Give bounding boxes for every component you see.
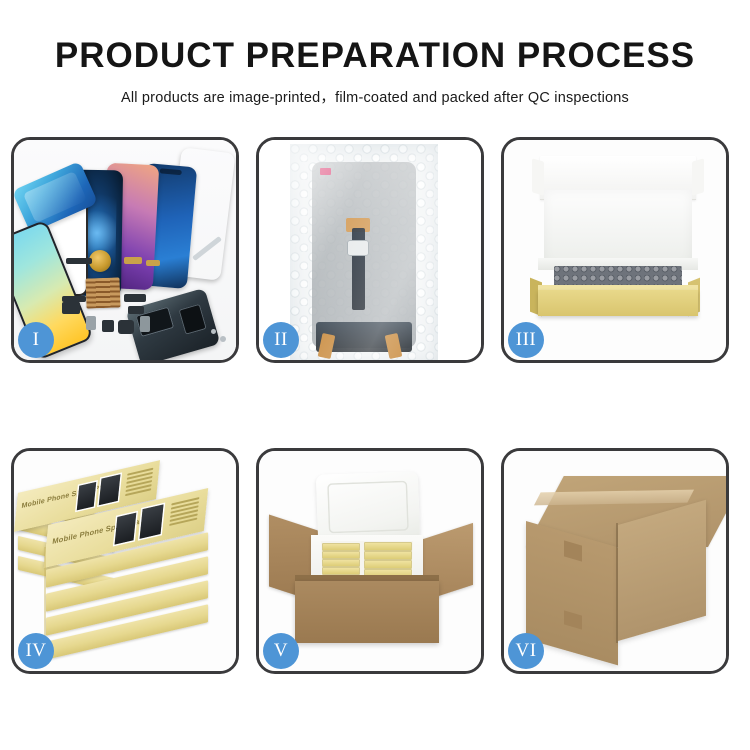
page-title: PRODUCT PREPARATION PROCESS	[0, 36, 750, 76]
part-strip-1	[66, 258, 92, 264]
part-flex-2	[124, 257, 142, 264]
step-number-badge: IV	[18, 633, 54, 669]
connector-chip	[347, 240, 369, 256]
part-chip-7	[128, 306, 144, 314]
step-number-badge: II	[263, 322, 299, 358]
box-screen-print-3	[115, 513, 137, 545]
packed-box-5	[365, 543, 411, 550]
process-step-panel-6[interactable]: VI	[501, 448, 729, 674]
box-spec-lines-2	[169, 497, 200, 528]
carton-front-wall	[295, 581, 439, 643]
part-chip-6	[124, 294, 146, 302]
part-flex-3	[146, 260, 160, 266]
speaker-coil-part	[89, 250, 111, 272]
part-cable-5	[62, 302, 80, 314]
process-step-panel-4[interactable]: Mobile Phone Spare Parts Mobile Phone Sp…	[11, 448, 239, 674]
box-screen-print-2	[99, 474, 121, 505]
box-screen-print-4	[140, 504, 164, 539]
packed-box-6	[365, 552, 411, 559]
process-step-panel-3[interactable]: III	[501, 137, 729, 363]
carton-side-face	[618, 500, 706, 641]
carton-corner-seam	[616, 523, 618, 643]
yellow-box-tray	[538, 290, 698, 316]
process-step-panel-5[interactable]: V	[256, 448, 484, 674]
box-screen-print-1	[77, 482, 97, 511]
white-foam-sheet	[544, 190, 692, 266]
packed-box-2	[323, 552, 359, 558]
process-steps-grid: I II	[11, 137, 739, 682]
process-step-panel-1[interactable]: I	[11, 137, 239, 363]
packed-box-4	[323, 568, 359, 574]
part-tray-11	[140, 316, 150, 332]
page-header: PRODUCT PREPARATION PROCESS All products…	[0, 0, 750, 107]
page-subtitle: All products are image-printed，film-coat…	[0, 86, 750, 107]
box-spec-lines-1	[125, 468, 154, 499]
phone-notch-icon	[160, 168, 182, 175]
part-button-8	[86, 316, 96, 330]
packing-tape-strip	[534, 490, 694, 506]
part-speaker-10	[118, 320, 134, 334]
pink-label-sticker	[320, 168, 331, 175]
part-button-9	[102, 320, 114, 332]
packed-box-7	[365, 561, 411, 568]
foam-box-lid	[316, 471, 420, 543]
process-step-panel-2[interactable]: II	[256, 137, 484, 363]
step-number-badge: V	[263, 633, 299, 669]
stack-edge-shadow	[44, 547, 46, 643]
packed-box-3	[323, 560, 359, 566]
product-preparation-page: PRODUCT PREPARATION PROCESS All products…	[0, 0, 750, 750]
step-number-badge: III	[508, 322, 544, 358]
step-number-badge: I	[18, 322, 54, 358]
connector-grid-chip	[85, 277, 120, 308]
screws-13	[211, 329, 216, 334]
screws-12	[220, 336, 226, 342]
packed-box-1	[323, 544, 359, 550]
step-number-badge: VI	[508, 633, 544, 669]
bubble-wrap-bag	[290, 144, 438, 360]
